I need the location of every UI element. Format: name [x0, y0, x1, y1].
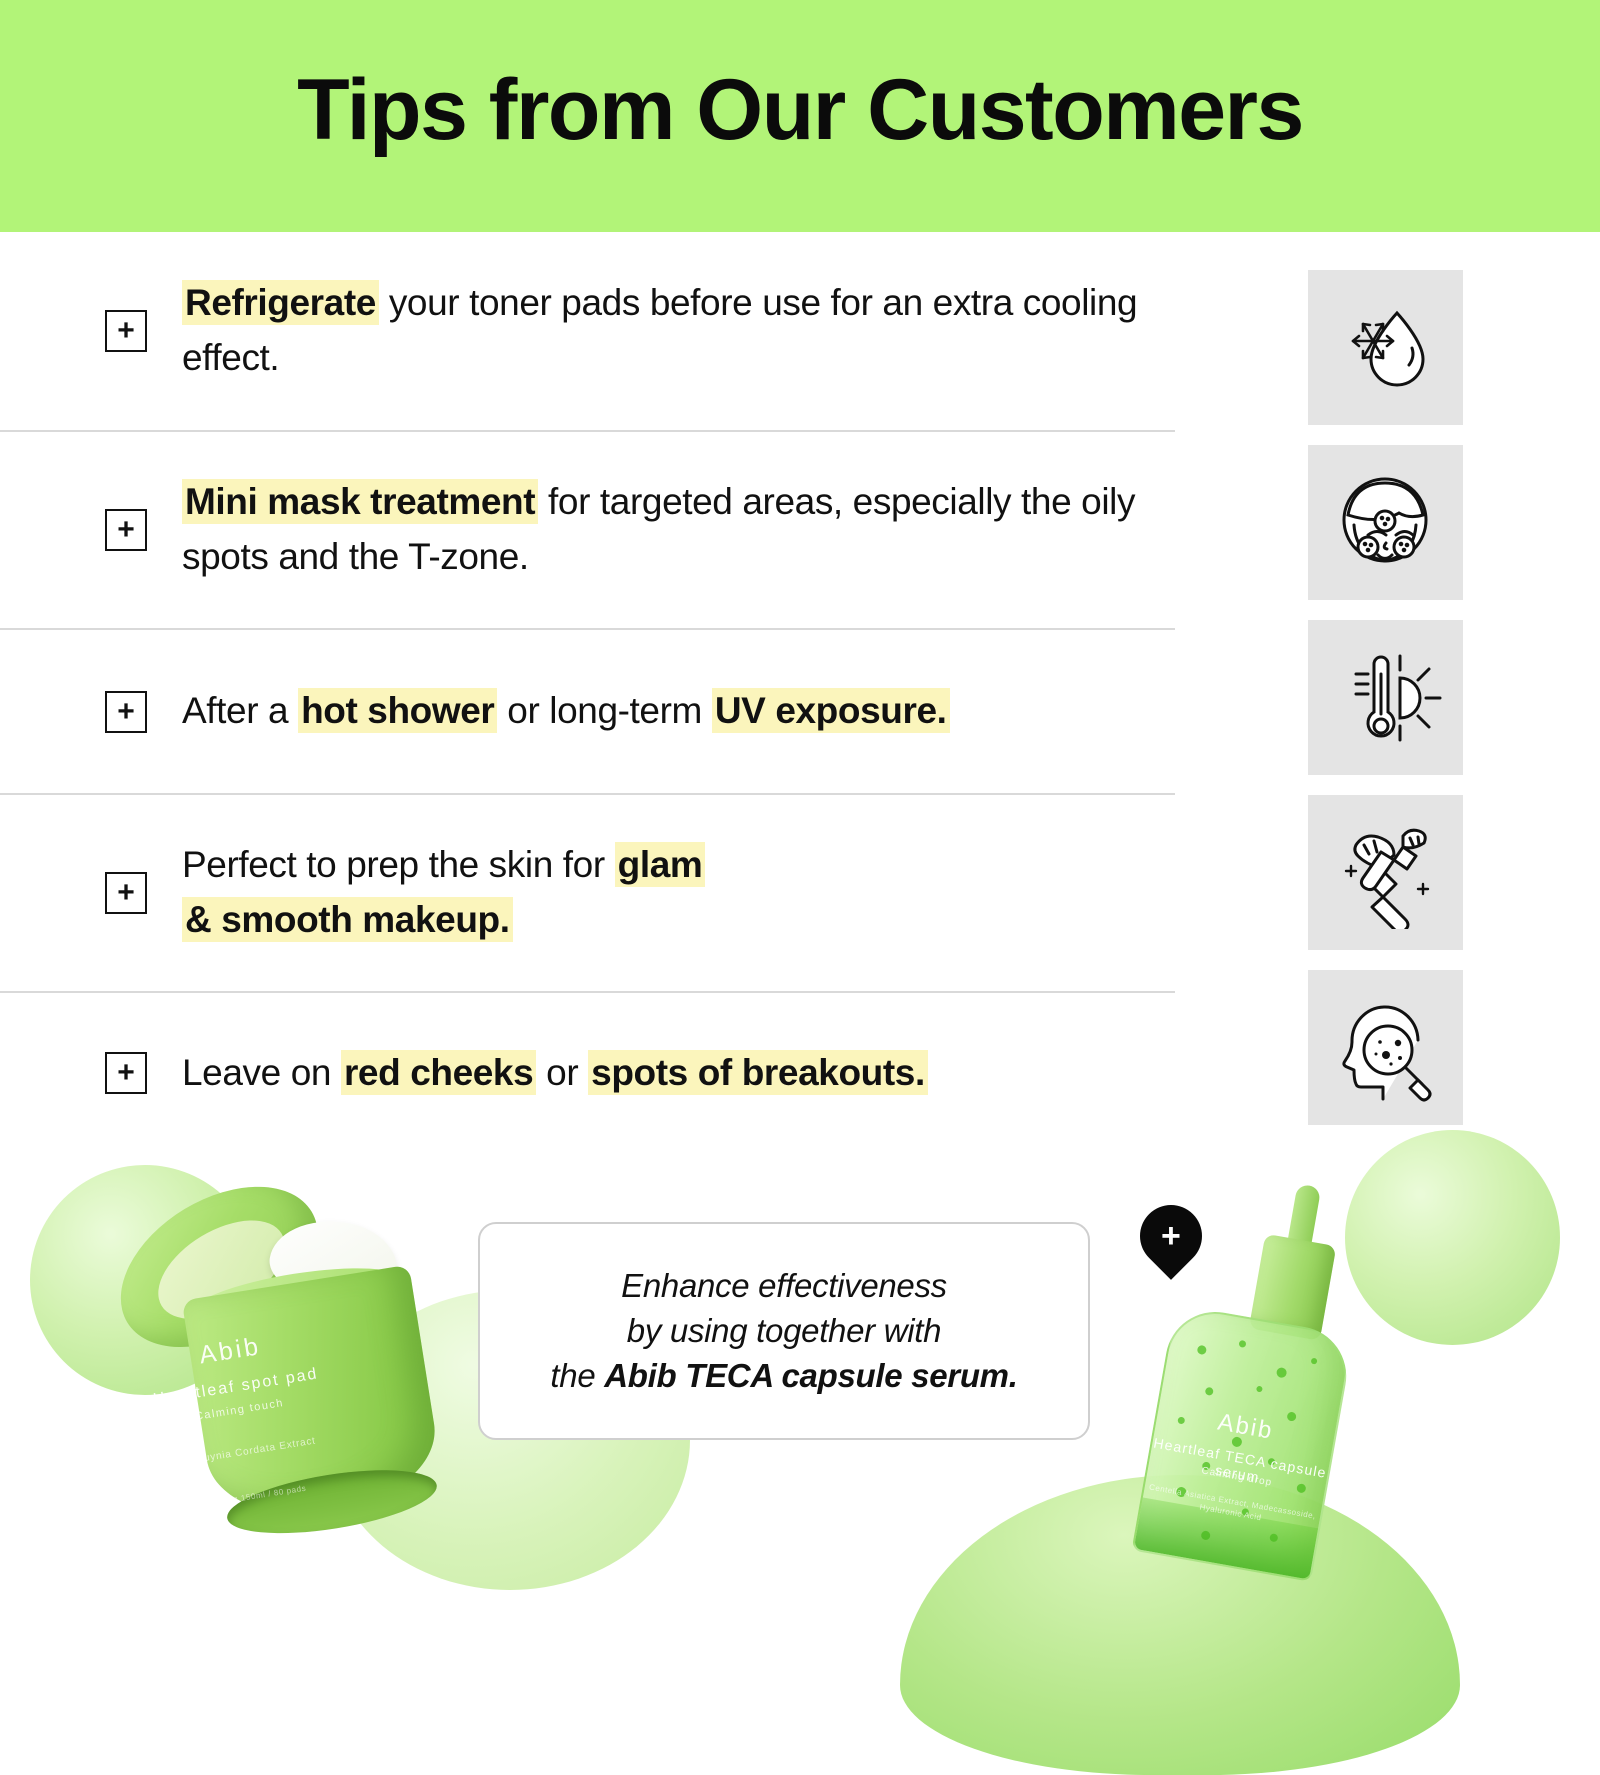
tip-text: Refrigerate your toner pads before use f…: [182, 242, 1175, 420]
callout-line-3: the Abib TECA capsule serum.: [550, 1357, 1017, 1395]
tip-text: Leave on red cheeks or spots of breakout…: [182, 1012, 928, 1135]
tip-highlight: glam: [615, 842, 706, 887]
tip-icon-tile: [1308, 970, 1463, 1125]
tip-icon-column: [1308, 270, 1463, 1125]
callout-line-1: Enhance effectiveness: [621, 1267, 947, 1305]
tip-row[interactable]: + Refrigerate your toner pads before use…: [0, 232, 1175, 432]
tip-icon-tile: [1308, 270, 1463, 425]
tip-row[interactable]: + After a hot shower or long-term UV exp…: [0, 630, 1175, 795]
plus-marker-icon[interactable]: +: [105, 509, 147, 551]
tip-highlight: Mini mask treatment: [182, 479, 538, 524]
tip-plain: or: [536, 1052, 588, 1093]
callout-line-3-bold: Abib TECA capsule serum.: [604, 1357, 1017, 1394]
plus-marker-icon[interactable]: +: [105, 872, 147, 914]
tip-icon-tile: [1308, 445, 1463, 600]
page-header: Tips from Our Customers: [0, 0, 1600, 232]
tip-highlight: UV exposure.: [712, 688, 950, 733]
tip-text: Perfect to prep the skin for glam& smoot…: [182, 804, 705, 982]
tip-highlight: spots of breakouts.: [588, 1050, 928, 1095]
callout-box: Enhance effectiveness by using together …: [478, 1222, 1090, 1440]
tip-highlight: & smooth makeup.: [182, 897, 513, 942]
tip-text: Mini mask treatment for targeted areas, …: [182, 441, 1175, 619]
tip-icon-tile: [1308, 620, 1463, 775]
tip-plain: Leave on: [182, 1052, 341, 1093]
page-title: Tips from Our Customers: [297, 67, 1303, 165]
callout-line-3-prefix: the: [550, 1357, 604, 1394]
tip-highlight: red cheeks: [341, 1050, 536, 1095]
tip-highlight: hot shower: [298, 688, 497, 733]
tip-highlight: Refrigerate: [182, 280, 379, 325]
tip-plain: or long-term: [497, 690, 711, 731]
serum-bottle-body: [1131, 1304, 1354, 1582]
plus-marker-icon[interactable]: +: [105, 691, 147, 733]
tip-row[interactable]: + Perfect to prep the skin for glam& smo…: [0, 795, 1175, 993]
tip-text: After a hot shower or long-term UV expos…: [182, 650, 950, 773]
thermometer-sun-icon: [1330, 642, 1442, 754]
makeup-brushes-icon: [1330, 817, 1442, 929]
tip-row[interactable]: + Mini mask treatment for targeted areas…: [0, 432, 1175, 630]
callout-line-2: by using together with: [627, 1312, 941, 1350]
tip-row[interactable]: + Leave on red cheeks or spots of breako…: [0, 993, 1175, 1153]
plus-marker-icon[interactable]: +: [105, 1052, 147, 1094]
plus-marker-icon[interactable]: +: [105, 310, 147, 352]
tip-plain: Perfect to prep the skin for: [182, 844, 615, 885]
head-blemish-magnifier-icon: [1330, 992, 1442, 1104]
plus-badge-symbol: +: [1161, 1219, 1181, 1253]
tip-plain: After a: [182, 690, 298, 731]
snowflake-droplet-icon: [1331, 293, 1441, 403]
face-sheet-mask-icon: [1328, 465, 1443, 580]
tip-icon-tile: [1308, 795, 1463, 950]
